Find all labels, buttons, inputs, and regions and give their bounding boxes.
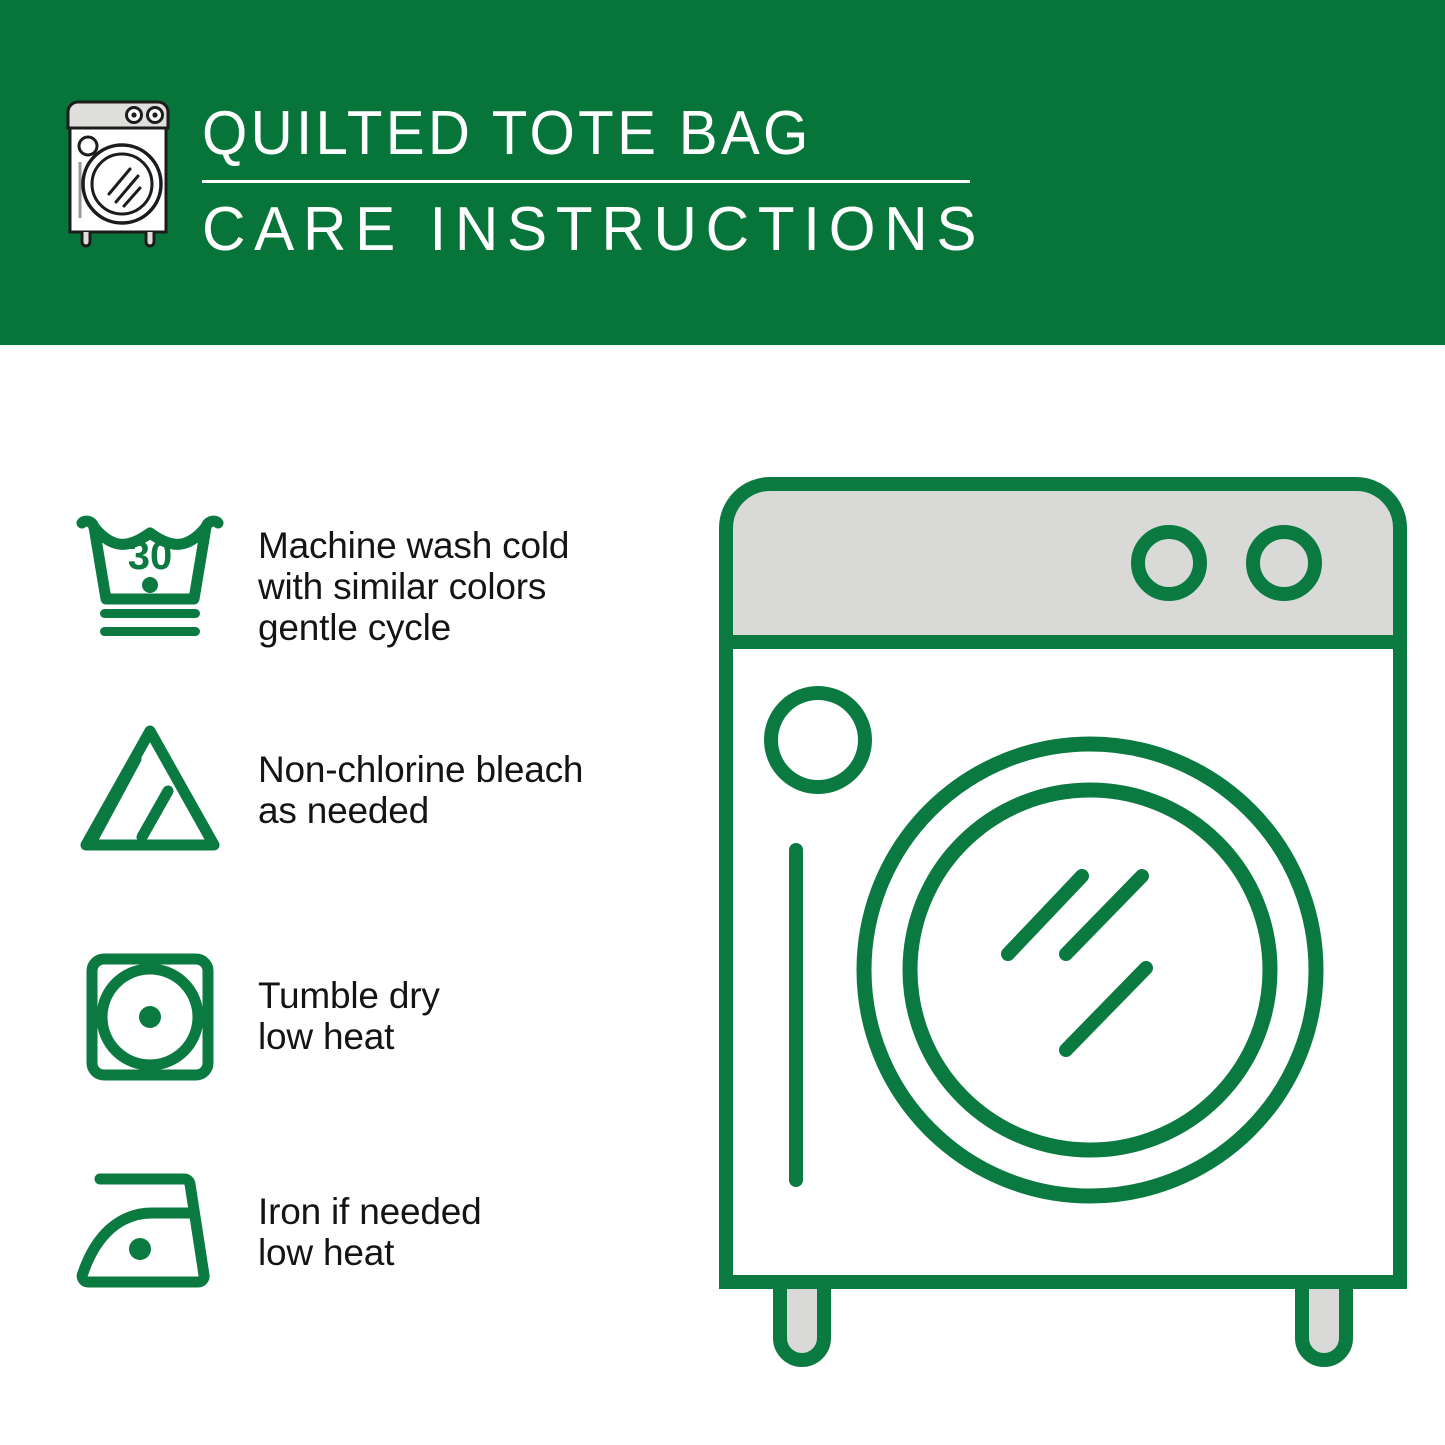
- wash-tub-30-icon: 30: [66, 503, 234, 653]
- list-item-text: Machine wash cold with similar colors ge…: [258, 503, 569, 648]
- text-line: low heat: [258, 1016, 440, 1057]
- tumble-dry-icon: [66, 941, 234, 1091]
- list-item-text: Tumble dry low heat: [258, 941, 440, 1057]
- washing-machine-icon: [62, 96, 180, 248]
- list-item: Iron if needed low heat: [66, 1157, 686, 1307]
- list-item-text: Non-chlorine bleach as needed: [258, 717, 583, 831]
- list-item: Non-chlorine bleach as needed: [66, 717, 686, 867]
- machine-leg-right: [1302, 1282, 1346, 1360]
- iron-icon: [66, 1157, 234, 1307]
- wash-temperature-label: 30: [128, 534, 173, 578]
- text-line: with similar colors: [258, 566, 569, 607]
- page-subtitle: CARE INSTRUCTIONS: [202, 195, 985, 265]
- header-title-group: QUILTED TOTE BAG CARE INSTRUCTIONS: [202, 96, 1009, 265]
- header-content: QUILTED TOTE BAG CARE INSTRUCTIONS: [62, 96, 1009, 265]
- washing-machine-illustration: [718, 470, 1408, 1380]
- machine-top-panel: [726, 484, 1400, 642]
- list-item-text: Iron if needed low heat: [258, 1157, 481, 1273]
- list-item: 30 Machine wash cold with similar colors…: [66, 503, 686, 653]
- text-line: Tumble dry: [258, 975, 440, 1016]
- text-line: as needed: [258, 790, 583, 831]
- machine-body: [726, 642, 1400, 1282]
- page-title: QUILTED TOTE BAG: [202, 100, 961, 168]
- text-line: low heat: [258, 1232, 481, 1273]
- text-line: Non-chlorine bleach: [258, 749, 583, 790]
- bleach-triangle-icon: [66, 717, 234, 867]
- text-line: Iron if needed: [258, 1191, 481, 1232]
- machine-leg-left: [780, 1282, 824, 1360]
- instructions-list: 30 Machine wash cold with similar colors…: [0, 345, 700, 1445]
- text-line: gentle cycle: [258, 607, 569, 648]
- title-divider: [202, 180, 970, 183]
- care-instructions-page: QUILTED TOTE BAG CARE INSTRUCTIONS 30 Ma…: [0, 0, 1445, 1445]
- text-line: Machine wash cold: [258, 525, 569, 566]
- list-item: Tumble dry low heat: [66, 941, 686, 1091]
- header-banner: QUILTED TOTE BAG CARE INSTRUCTIONS: [0, 0, 1445, 345]
